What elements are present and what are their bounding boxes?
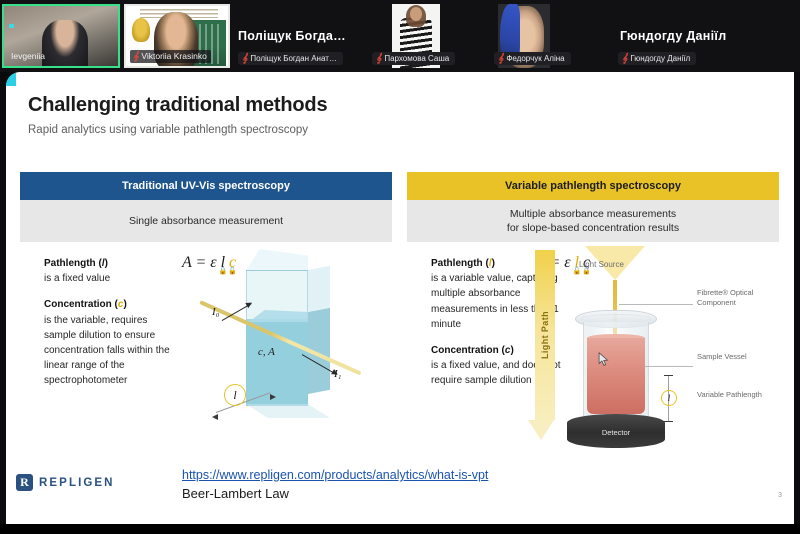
screen-bottom-bar: [0, 524, 800, 534]
university-crest-icon: [132, 18, 150, 42]
participant-bigname-polishchuk: Поліщук Богда…: [238, 29, 346, 43]
participant-tile-viktoriia-krasinko[interactable]: 𝄞 Viktoriia Krasinko: [124, 4, 230, 68]
panel-left-paragraph-2: Concentration (c) is the variable, requi…: [44, 297, 176, 388]
panel-subheader-right-line2: for slope-based concentration results: [507, 221, 679, 235]
page-title: Challenging traditional methods: [28, 94, 327, 117]
participant-name-text: Пархомова Саша: [384, 54, 449, 63]
microphone-muted-icon: 𝄞: [376, 54, 381, 63]
mouse-cursor-icon: [598, 352, 609, 367]
callout-leader-line-1: [619, 304, 693, 305]
light-path-label-wrap: Light Path: [535, 250, 555, 420]
slide-page-number: 3: [778, 492, 782, 499]
source-url-link[interactable]: https://www.repligen.com/products/analyt…: [182, 468, 488, 482]
detector-label: Detector: [567, 428, 665, 437]
panel-body-left: Pathlength (l) is a fixed value Concentr…: [20, 242, 392, 472]
panel-header-left: Traditional UV-Vis spectroscopy: [20, 172, 392, 200]
participant-tile-ievgeniia[interactable]: Ievgeniia: [2, 4, 120, 68]
participant-chip-parkhomova[interactable]: 𝄞 Пархомова Саша: [372, 52, 455, 65]
panel-left-bold-2: Concentration (c): [44, 299, 127, 310]
label-transmitted-intensity: I₁: [334, 368, 342, 380]
light-source-label: Light Source: [579, 260, 624, 269]
source-caption: Beer-Lambert Law: [182, 486, 289, 501]
panel-left-text: Pathlength (l) is a fixed value Concentr…: [44, 256, 176, 400]
panel-subheader-left: Single absorbance measurement: [20, 200, 392, 242]
sample-liquid: [587, 338, 645, 414]
dimension-arrow-right-icon: [270, 394, 276, 400]
symbol-l: l: [489, 258, 492, 269]
label-incident-intensity: I₀: [212, 306, 220, 318]
callout-sample-vessel: Sample Vessel: [697, 352, 747, 362]
repligen-logo-mark-icon: R: [16, 474, 33, 491]
participant-name-label: Ievgeniia: [8, 50, 49, 63]
repligen-logo: R REPLIGEN: [16, 474, 115, 491]
panel-right-bold-1: Pathlength (l): [431, 258, 495, 269]
cuvette-side-face: [308, 266, 330, 394]
participant-chip-polishchuk[interactable]: 𝄞 Поліщук Богдан Анат…: [238, 52, 343, 65]
light-path-arrow-tip-icon: [528, 420, 554, 440]
label-pathlength-circled: l: [661, 390, 677, 406]
panel-left-rest-2: is the variable, requires sample dilutio…: [44, 315, 170, 387]
participant-chip-fedorchuk[interactable]: 𝄞 Федорчук Аліна: [494, 52, 571, 65]
screen-share-indicator-icon: [9, 24, 14, 28]
participant-name-text: Viktoriia Krasinko: [141, 51, 207, 62]
light-path-label: Light Path: [540, 311, 550, 359]
webcam-face: [410, 7, 422, 21]
participant-name-text: Гюндогду Даніїл: [630, 54, 690, 63]
participant-name-label: 𝄞 Viktoriia Krasinko: [130, 50, 211, 63]
microphone-muted-icon: 𝄞: [498, 54, 503, 63]
callout-variable-pathlength: Variable Pathlength: [697, 390, 762, 400]
panel-variable-pathlength: Variable pathlength spectroscopy Multipl…: [407, 172, 779, 472]
participant-name-text: Поліщук Богдан Анат…: [250, 54, 337, 63]
microphone-muted-icon: 𝄞: [242, 54, 247, 63]
symbol-l: l: [102, 258, 105, 269]
panel-subheader-left-line1: Single absorbance measurement: [129, 214, 283, 228]
screen: Ievgeniia 𝄞 Viktoriia Krasinko Поліщук Б…: [0, 0, 800, 534]
symbol-c: c: [505, 345, 511, 356]
cuvette-base-face: [246, 404, 330, 418]
slide-accent-corner: [6, 72, 16, 86]
participant-name-text: Федорчук Аліна: [506, 54, 564, 63]
panel-body-right: Pathlength (l) is a variable value, capt…: [407, 242, 779, 472]
panel-left-bold-1: Pathlength (l): [44, 258, 108, 269]
dimension-arrow-bottom-icon: [664, 421, 673, 422]
fibrette-diagram: Light Path Light Source Detector Fi: [527, 242, 779, 472]
microphone-muted-icon: 𝄞: [133, 52, 138, 61]
panel-left-rest-1: is a fixed value: [44, 273, 110, 284]
callout-fibrette-optical-component: Fibrette® Optical Component: [697, 288, 779, 308]
symbol-c: c: [118, 299, 124, 310]
dimension-arrow-left-icon: [212, 414, 218, 420]
panel-right-bold-2: Concentration (c): [431, 345, 514, 356]
microphone-muted-icon: 𝄞: [622, 54, 627, 63]
equation-A: A: [182, 254, 191, 271]
participant-chip-gyundogdu[interactable]: 𝄞 Гюндогду Даніїл: [618, 52, 696, 65]
presentation-slide: Challenging traditional methods Rapid an…: [6, 72, 794, 524]
cuvette-diagram: I₀ I₁ c, A l: [198, 244, 388, 470]
cuvette-top-face: [246, 249, 308, 271]
participant-bigname-gyundogdu: Гюндогду Даніїл: [620, 29, 726, 43]
panel-subheader-right: Multiple absorbance measurements for slo…: [407, 200, 779, 242]
panel-left-paragraph-1: Pathlength (l) is a fixed value: [44, 256, 176, 286]
dimension-arrow-top-icon: [664, 375, 673, 376]
video-conference-strip: Ievgeniia 𝄞 Viktoriia Krasinko Поліщук Б…: [0, 0, 800, 72]
panel-subheader-right-line1: Multiple absorbance measurements: [510, 207, 676, 221]
callout-leader-line-2: [645, 366, 693, 367]
repligen-logo-text: REPLIGEN: [39, 477, 115, 489]
page-subtitle: Rapid analytics using variable pathlengt…: [28, 124, 308, 136]
panel-header-right: Variable pathlength spectroscopy: [407, 172, 779, 200]
label-pathlength-circled: l: [224, 384, 246, 406]
panel-traditional-uv-vis: Traditional UV-Vis spectroscopy Single a…: [20, 172, 392, 472]
label-concentration-absorbance: c, A: [258, 346, 275, 358]
